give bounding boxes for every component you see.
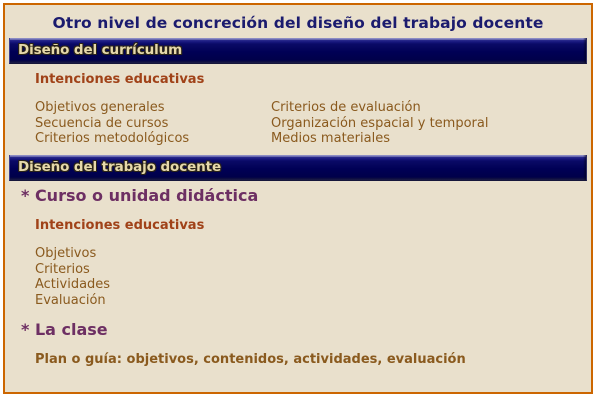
list-item: Criterios metodológicos: [35, 131, 189, 147]
spacer: [5, 88, 591, 100]
spacer: [5, 206, 591, 218]
list-item: Objetivos generales: [35, 100, 189, 116]
list-item: Actividades: [35, 277, 591, 293]
list-item: Criterios de evaluación: [271, 100, 488, 116]
list-item: Objetivos: [35, 246, 591, 262]
list-item: Criterios: [35, 262, 591, 278]
page-title: Otro nivel de concreción del diseño del …: [5, 5, 591, 33]
heading-la-clase: * La clase: [21, 320, 591, 340]
list-item: Medios materiales: [271, 131, 488, 147]
curriculum-right-column: Criterios de evaluación Organización esp…: [271, 100, 488, 147]
curriculum-left-column: Objetivos generales Secuencia de cursos …: [35, 100, 189, 147]
spacer: [5, 308, 591, 320]
curriculum-two-column-list: Objetivos generales Secuencia de cursos …: [35, 100, 591, 150]
heading-curso-o-unidad-didactica: * Curso o unidad didáctica: [21, 186, 591, 206]
curso-items-list: Objetivos Criterios Actividades Evaluaci…: [35, 246, 591, 308]
slide-frame: Otro nivel de concreción del diseño del …: [3, 3, 593, 394]
subheading-intenciones-educativas-2: Intenciones educativas: [35, 218, 591, 234]
list-item: Evaluación: [35, 293, 591, 309]
la-clase-detail: Plan o guía: objetivos, contenidos, acti…: [35, 352, 591, 368]
list-item: Organización espacial y temporal: [271, 116, 488, 132]
section-banner-curriculum: Diseño del currículum: [9, 38, 587, 64]
section-banner-trabajo-docente-label: Diseño del trabajo docente: [18, 159, 221, 175]
subheading-intenciones-educativas-1: Intenciones educativas: [35, 72, 591, 88]
list-item: Secuencia de cursos: [35, 116, 189, 132]
section-banner-trabajo-docente: Diseño del trabajo docente: [9, 155, 587, 181]
spacer: [5, 340, 591, 352]
spacer: [5, 234, 591, 246]
section-banner-curriculum-label: Diseño del currículum: [18, 42, 182, 58]
spacer: [5, 64, 591, 72]
